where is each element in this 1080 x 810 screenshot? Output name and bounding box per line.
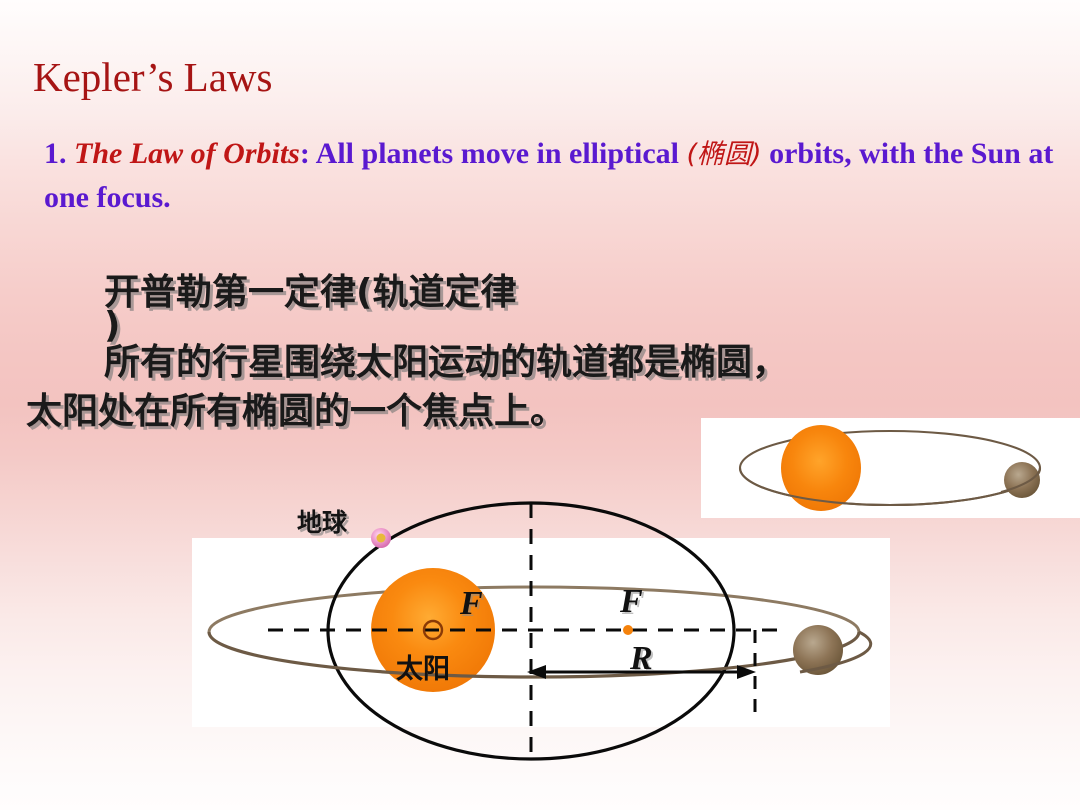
earth-label: 地球 [297, 503, 347, 539]
sun-label: 太阳 [396, 647, 450, 686]
bullet-text-part1: : All planets move in elliptical [300, 137, 687, 170]
inset-orbit-image [701, 418, 1080, 518]
bullet-number: 1. [44, 137, 67, 170]
main-orbit-image-plate [192, 538, 890, 727]
focus-label-2: F [620, 583, 643, 621]
inset-sun [781, 425, 861, 511]
chinese-line-1: 开普勒第一定律(轨道定律 [104, 263, 516, 315]
slide-root: Kepler’s Laws 1. The Law of Orbits: All … [0, 0, 1080, 810]
inset-svg [701, 418, 1080, 518]
radius-label: R [630, 640, 653, 678]
page-title: Kepler’s Laws [33, 55, 272, 100]
focus-label-1: F [460, 585, 483, 623]
inset-planet [1004, 462, 1040, 498]
bullet-paragraph: 1. The Law of Orbits: All planets move i… [44, 132, 1064, 219]
chinese-line-4: 太阳处在所有椭圆的一个焦点上。 [26, 382, 566, 434]
bullet-chinese-gloss: (椭圆) [687, 139, 762, 170]
chinese-line-3: 所有的行星围绕太阳运动的轨道都是椭圆， [104, 333, 788, 385]
law-name: The Law of Orbits [74, 137, 300, 170]
